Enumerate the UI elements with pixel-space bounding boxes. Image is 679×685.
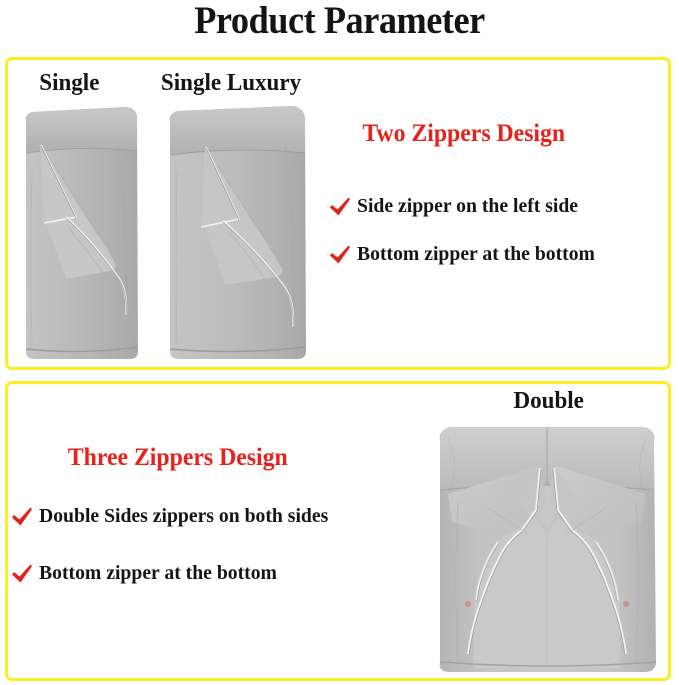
three-zippers-design-heading: Three Zippers Design (68, 444, 288, 472)
feature-row-side-zipper: Side zipper on the left side (328, 195, 587, 218)
feature-row-bottom-zipper: Bottom zipper at the bottom (328, 243, 605, 266)
check-icon (328, 244, 352, 266)
product-label-double: Double (513, 388, 583, 415)
two-zippers-design-heading: Two Zippers Design (362, 120, 565, 148)
check-icon (10, 563, 34, 585)
feature-text: Double Sides zippers on both sides (39, 505, 328, 528)
check-icon (328, 196, 352, 218)
feature-text: Side zipper on the left side (357, 195, 578, 218)
feature-row-bottom-zipper-double: Bottom zipper at the bottom (10, 562, 287, 585)
page-title: Product Parameter (24, 0, 655, 43)
check-icon (10, 506, 34, 528)
sleeping-bag-liner-double-image (418, 418, 676, 681)
product-label-single: Single (39, 70, 99, 97)
sleeping-bag-liner-single-luxury-image (165, 101, 310, 363)
feature-row-double-side-zippers: Double Sides zippers on both sides (10, 505, 340, 528)
product-parameter-infographic: Product Parameter (0, 0, 679, 685)
sleeping-bag-liner-single-image (22, 101, 142, 363)
product-label-single-luxury: Single Luxury (161, 70, 301, 97)
feature-text: Bottom zipper at the bottom (39, 562, 277, 585)
feature-text: Bottom zipper at the bottom (357, 243, 595, 266)
